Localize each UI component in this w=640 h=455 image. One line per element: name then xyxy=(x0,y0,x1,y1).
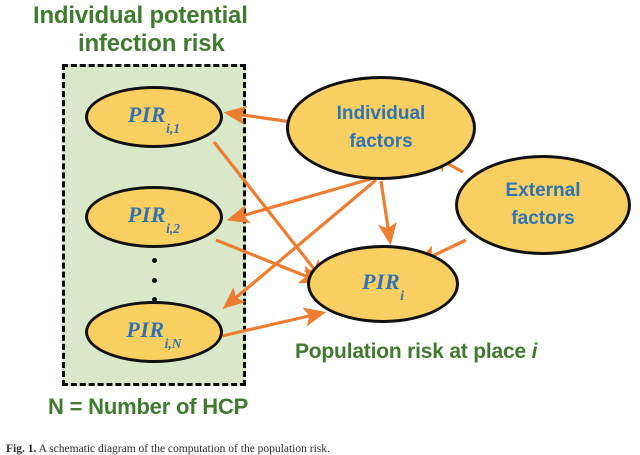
node-pir-i1-subscript: i,1 xyxy=(166,121,180,136)
node-pir-i[interactable]: PIRi xyxy=(307,245,459,323)
figure-caption-text: A schematic diagram of the computation o… xyxy=(36,443,330,455)
node-pir-in-base: PIR xyxy=(126,317,164,342)
node-pir-i-base: PIR xyxy=(362,269,400,294)
ellipsis-dot xyxy=(152,258,157,263)
node-pir-i2-label: PIRi,2 xyxy=(128,202,180,231)
node-individual-factors-line-1: Individual xyxy=(337,100,426,129)
ellipsis-dot xyxy=(152,278,157,283)
diagram-title-line-1: Individual potential xyxy=(33,2,248,30)
node-individual-factors[interactable]: Individual factors xyxy=(286,76,476,180)
population-risk-label: Population risk at place i xyxy=(295,340,537,365)
population-risk-label-index: i xyxy=(532,340,538,363)
node-pir-i2-subscript: i,2 xyxy=(166,221,180,236)
node-pir-in-subscript: i,N xyxy=(165,336,182,351)
node-external-factors-line-1: External xyxy=(506,177,581,206)
node-pir-i-subscript: i xyxy=(400,288,404,303)
hcp-definition-label: N = Number of HCP xyxy=(48,394,248,420)
edge-individual-factors-to-pir-i2 xyxy=(231,178,374,219)
diagram-canvas: Individual potential infection risk xyxy=(0,0,640,455)
edge-individual-factors-to-pir-i xyxy=(381,181,390,241)
node-pir-i2[interactable]: PIRi,2 xyxy=(85,186,223,248)
diagram-title-line-2: infection risk xyxy=(78,30,225,58)
population-risk-label-text: Population risk at place xyxy=(295,340,532,363)
node-external-factors[interactable]: External factors xyxy=(455,155,631,255)
node-individual-factors-line-2: factors xyxy=(349,128,412,157)
node-pir-i1-label: PIRi,1 xyxy=(128,102,180,131)
node-pir-in-label: PIRi,N xyxy=(126,317,181,346)
node-pir-i2-base: PIR xyxy=(128,202,166,227)
figure-caption: Fig. 1. A schematic diagram of the compu… xyxy=(6,443,634,455)
node-pir-i1-base: PIR xyxy=(128,102,166,127)
node-pir-in[interactable]: PIRi,N xyxy=(85,301,223,363)
node-pir-i-label: PIRi xyxy=(362,269,404,298)
node-external-factors-line-2: factors xyxy=(511,205,574,234)
node-pir-i1[interactable]: PIRi,1 xyxy=(85,86,223,148)
vertical-ellipsis-icon xyxy=(148,258,160,302)
figure-caption-number: Fig. 1. xyxy=(6,443,36,455)
